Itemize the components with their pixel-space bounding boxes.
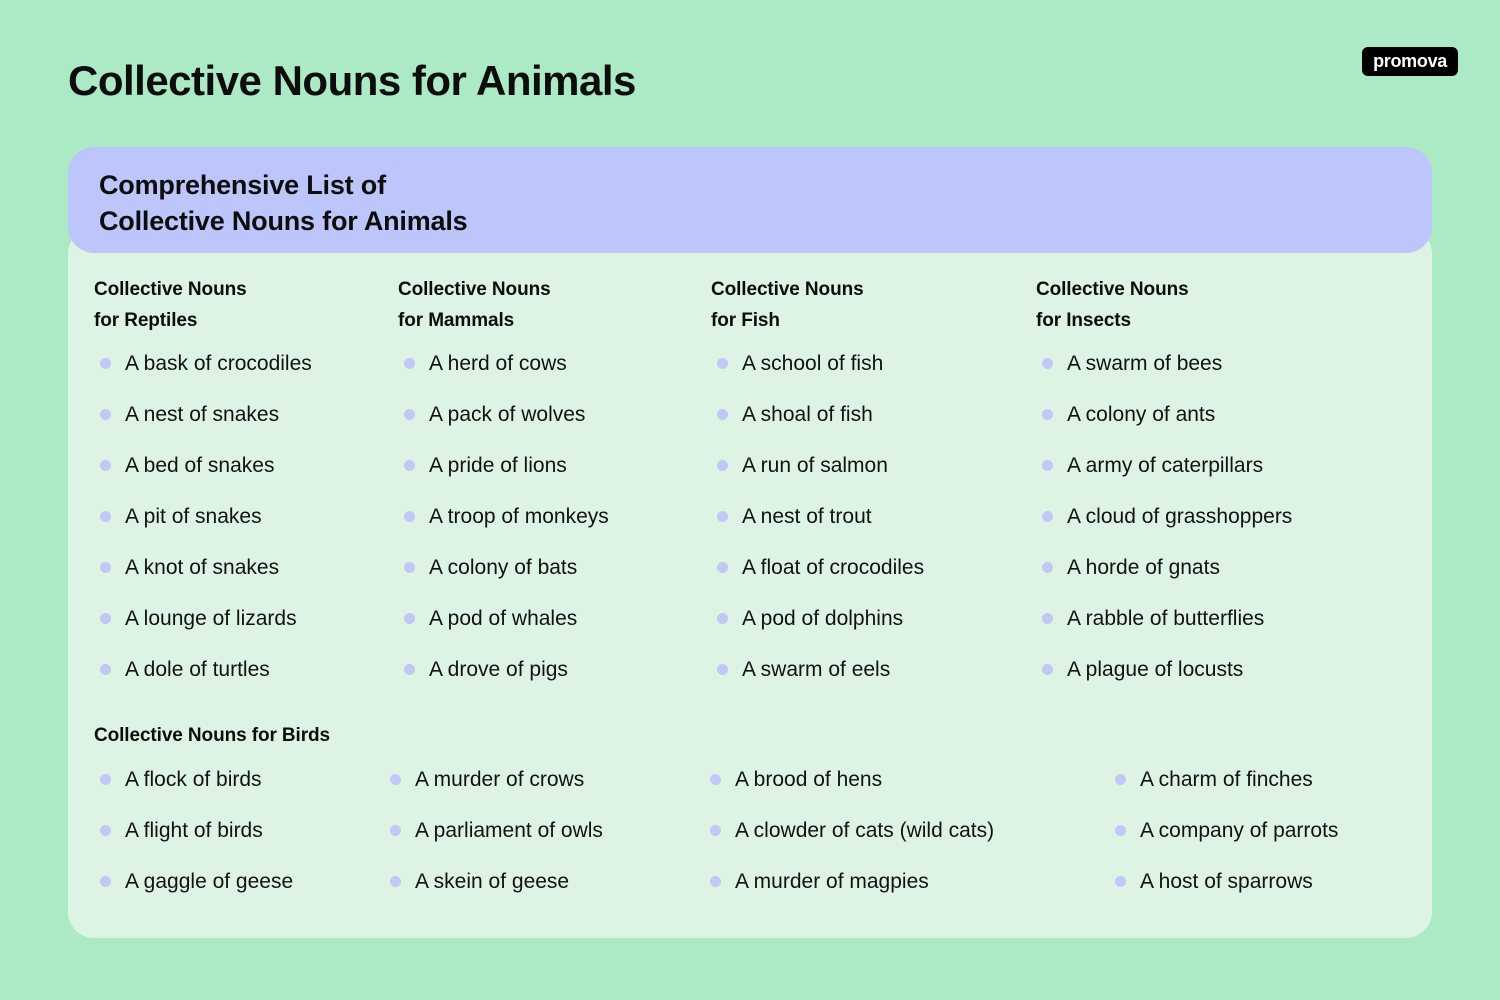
category-column-reptiles: Collective Nouns for Reptiles A bask of … [68,275,398,708]
bullet-dot-icon [100,613,111,624]
noun-label: A pack of wolves [429,402,585,427]
noun-list-fish: A school of fish A shoal of fish A run o… [711,351,1036,708]
bullet-dot-icon [100,409,111,420]
noun-label: A cloud of grasshoppers [1067,504,1292,529]
noun-label: A bask of crocodiles [125,351,312,376]
noun-list-birds-3: A brood of hens A clowder of cats (wild … [704,767,1109,920]
noun-label: A army of caterpillars [1067,453,1263,478]
noun-label: A drove of pigs [429,657,568,682]
list-item: A swarm of eels [711,657,1036,708]
noun-label: A charm of finches [1140,767,1313,792]
bullet-dot-icon [404,460,415,471]
list-item: A colony of bats [398,555,711,606]
bullet-dot-icon [404,358,415,369]
bullet-dot-icon [390,774,401,785]
noun-label: A colony of ants [1067,402,1215,427]
banner-card: Comprehensive List of Collective Nouns f… [68,147,1432,253]
list-item: A flock of birds [94,767,384,818]
list-item: A colony of ants [1036,402,1432,453]
bullet-dot-icon [717,460,728,471]
bullet-dot-icon [710,774,721,785]
list-item: A pod of whales [398,606,711,657]
noun-label: A company of parrots [1140,818,1338,843]
bullet-dot-icon [717,664,728,675]
bullet-dot-icon [1042,409,1053,420]
noun-label: A gaggle of geese [125,869,293,894]
list-item: A drove of pigs [398,657,711,708]
main-content-card: Collective Nouns for Reptiles A bask of … [68,228,1432,938]
noun-label: A float of crocodiles [742,555,924,580]
noun-label: A horde of gnats [1067,555,1220,580]
bullet-dot-icon [404,613,415,624]
noun-label: A knot of snakes [125,555,279,580]
noun-label: A murder of crows [415,767,584,792]
birds-columns: A flock of birds A flight of birds A gag… [94,767,1432,920]
list-item: A herd of cows [398,351,711,402]
list-item: A lounge of lizards [94,606,398,657]
list-item: A plague of locusts [1036,657,1432,708]
list-item: A murder of magpies [704,869,1109,920]
bullet-dot-icon [1042,358,1053,369]
birds-column-3: A brood of hens A clowder of cats (wild … [704,767,1109,920]
list-item: A nest of snakes [94,402,398,453]
noun-label: A clowder of cats (wild cats) [735,818,994,843]
noun-list-birds-2: A murder of crows A parliament of owls A… [384,767,704,920]
category-heading-reptiles: Collective Nouns for Reptiles [94,275,398,337]
noun-label: A parliament of owls [415,818,603,843]
noun-label: A rabble of butterflies [1067,606,1264,631]
bullet-dot-icon [100,664,111,675]
bullet-dot-icon [1115,774,1126,785]
bullet-dot-icon [100,460,111,471]
noun-label: A pride of lions [429,453,567,478]
noun-label: A pod of dolphins [742,606,903,631]
noun-list-birds-1: A flock of birds A flight of birds A gag… [94,767,384,920]
category-columns: Collective Nouns for Reptiles A bask of … [68,275,1432,708]
category-heading-fish: Collective Nouns for Fish [711,275,1036,337]
list-item: A clowder of cats (wild cats) [704,818,1109,869]
list-item: A pride of lions [398,453,711,504]
bullet-dot-icon [404,562,415,573]
noun-label: A pod of whales [429,606,577,631]
page-title: Collective Nouns for Animals [68,57,636,105]
list-item: A troop of monkeys [398,504,711,555]
list-item: A shoal of fish [711,402,1036,453]
noun-label: A herd of cows [429,351,567,376]
list-item: A bed of snakes [94,453,398,504]
noun-label: A murder of magpies [735,869,929,894]
bullet-dot-icon [100,511,111,522]
category-heading-insects: Collective Nouns for Insects [1036,275,1432,337]
bullet-dot-icon [390,876,401,887]
bullet-dot-icon [717,613,728,624]
bullet-dot-icon [1115,825,1126,836]
bullet-dot-icon [100,825,111,836]
noun-label: A flight of birds [125,818,263,843]
noun-label: A shoal of fish [742,402,873,427]
list-item: A cloud of grasshoppers [1036,504,1432,555]
list-item: A nest of trout [711,504,1036,555]
category-heading-mammals: Collective Nouns for Mammals [398,275,711,337]
noun-label: A colony of bats [429,555,577,580]
list-item: A pit of snakes [94,504,398,555]
list-item: A pod of dolphins [711,606,1036,657]
promova-logo: promova [1362,47,1458,76]
bullet-dot-icon [390,825,401,836]
noun-label: A run of salmon [742,453,888,478]
noun-label: A dole of turtles [125,657,270,682]
birds-column-2: A murder of crows A parliament of owls A… [384,767,704,920]
bullet-dot-icon [100,774,111,785]
noun-label: A nest of trout [742,504,872,529]
birds-section: Collective Nouns for Birds A flock of bi… [94,725,1432,920]
category-column-mammals: Collective Nouns for Mammals A herd of c… [398,275,711,708]
bullet-dot-icon [717,358,728,369]
noun-list-birds-4: A charm of finches A company of parrots … [1109,767,1429,920]
bullet-dot-icon [100,562,111,573]
list-item: A rabble of butterflies [1036,606,1432,657]
noun-label: A flock of birds [125,767,262,792]
category-heading-birds: Collective Nouns for Birds [94,725,1432,747]
bullet-dot-icon [404,409,415,420]
bullet-dot-icon [717,409,728,420]
promova-logo-text: promova [1373,52,1447,70]
noun-label: A school of fish [742,351,883,376]
noun-list-mammals: A herd of cows A pack of wolves A pride … [398,351,711,708]
list-item: A flight of birds [94,818,384,869]
list-item: A charm of finches [1109,767,1429,818]
list-item: A host of sparrows [1109,869,1429,920]
bullet-dot-icon [1115,876,1126,887]
list-item: A dole of turtles [94,657,398,708]
list-item: A brood of hens [704,767,1109,818]
list-item: A knot of snakes [94,555,398,606]
list-item: A murder of crows [384,767,704,818]
bullet-dot-icon [1042,460,1053,471]
noun-label: A bed of snakes [125,453,274,478]
list-item: A pack of wolves [398,402,711,453]
noun-label: A pit of snakes [125,504,262,529]
list-item: A skein of geese [384,869,704,920]
bullet-dot-icon [100,876,111,887]
list-item: A bask of crocodiles [94,351,398,402]
noun-label: A lounge of lizards [125,606,297,631]
bullet-dot-icon [710,825,721,836]
list-item: A gaggle of geese [94,869,384,920]
category-column-fish: Collective Nouns for Fish A school of fi… [711,275,1036,708]
banner-heading: Comprehensive List of Collective Nouns f… [99,168,467,240]
list-item: A horde of gnats [1036,555,1432,606]
noun-list-reptiles: A bask of crocodiles A nest of snakes A … [94,351,398,708]
list-item: A army of caterpillars [1036,453,1432,504]
bullet-dot-icon [100,358,111,369]
list-item: A run of salmon [711,453,1036,504]
bullet-dot-icon [1042,613,1053,624]
bullet-dot-icon [717,511,728,522]
bullet-dot-icon [1042,562,1053,573]
category-column-insects: Collective Nouns for Insects A swarm of … [1036,275,1432,708]
list-item: A parliament of owls [384,818,704,869]
list-item: A school of fish [711,351,1036,402]
bullet-dot-icon [710,876,721,887]
bullet-dot-icon [1042,664,1053,675]
noun-label: A troop of monkeys [429,504,609,529]
noun-label: A host of sparrows [1140,869,1313,894]
list-item: A company of parrots [1109,818,1429,869]
page-header: Collective Nouns for Animals promova [0,0,1500,147]
birds-column-1: A flock of birds A flight of birds A gag… [94,767,384,920]
bullet-dot-icon [404,664,415,675]
noun-list-insects: A swarm of bees A colony of ants A army … [1036,351,1432,708]
bullet-dot-icon [404,511,415,522]
bullet-dot-icon [717,562,728,573]
noun-label: A swarm of eels [742,657,890,682]
list-item: A float of crocodiles [711,555,1036,606]
noun-label: A brood of hens [735,767,882,792]
noun-label: A plague of locusts [1067,657,1243,682]
noun-label: A nest of snakes [125,402,279,427]
noun-label: A skein of geese [415,869,569,894]
list-item: A swarm of bees [1036,351,1432,402]
bullet-dot-icon [1042,511,1053,522]
noun-label: A swarm of bees [1067,351,1222,376]
birds-column-4: A charm of finches A company of parrots … [1109,767,1429,920]
